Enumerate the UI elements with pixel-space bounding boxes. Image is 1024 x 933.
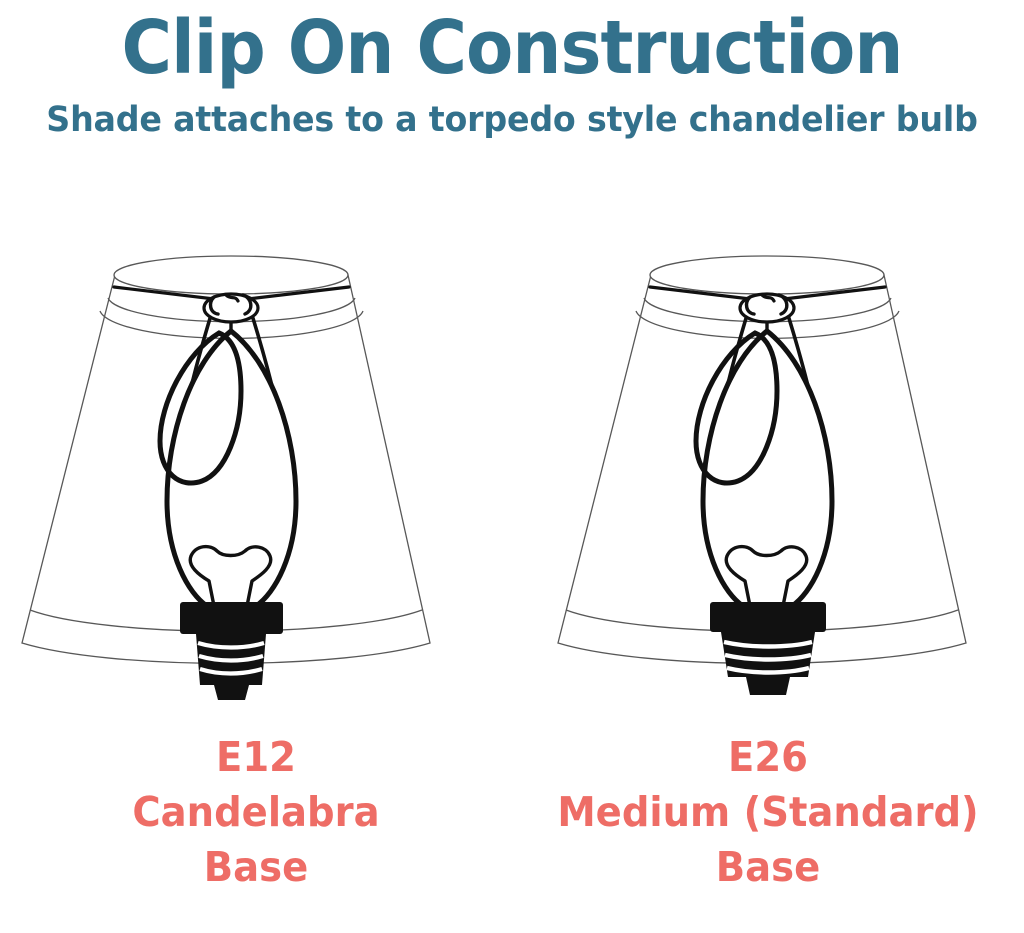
bulb-base-tip	[746, 677, 790, 695]
caption-line-code: E26	[527, 730, 1008, 785]
bulb-base-collar	[180, 602, 283, 634]
lampshade-e26-illustration	[512, 245, 1024, 700]
bulb-base-tip	[214, 685, 249, 700]
figure-row: E12 Candelabra Base	[0, 245, 1024, 933]
figure-right-e26: E26 Medium (Standard) Base	[512, 245, 1024, 933]
caption-line-code: E12	[15, 730, 496, 785]
caption-line-base: Base	[15, 840, 496, 895]
shade-top-ellipse	[650, 256, 884, 294]
caption-e26: E26 Medium (Standard) Base	[527, 730, 1008, 895]
caption-e12: E12 Candelabra Base	[15, 730, 496, 895]
page-subtitle: Shade attaches to a torpedo style chande…	[26, 96, 999, 144]
shade-top-ellipse	[114, 256, 348, 294]
heading-block: Clip On Construction Shade attaches to a…	[0, 0, 1024, 144]
caption-line-base: Base	[527, 840, 1008, 895]
infographic-root: Clip On Construction Shade attaches to a…	[0, 0, 1024, 933]
bulb-base-collar	[710, 602, 826, 632]
caption-line-name: Medium (Standard)	[527, 785, 1008, 840]
caption-line-name: Candelabra	[15, 785, 496, 840]
lampshade-e12-illustration	[0, 245, 512, 700]
page-title: Clip On Construction	[36, 0, 988, 96]
figure-left-e12: E12 Candelabra Base	[0, 245, 512, 933]
